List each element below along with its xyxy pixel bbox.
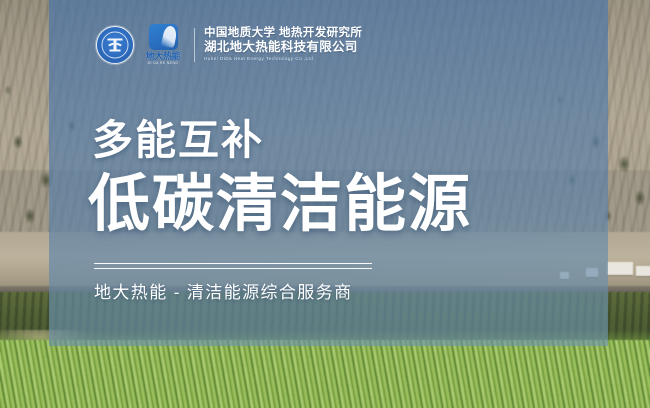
headline-primary: 低碳清洁能源 [88, 169, 472, 241]
brandmark-cn-label: 地大热能 [142, 51, 184, 61]
headline-divider [94, 263, 372, 269]
promotional-banner: 地大热能 DI DA RE NENG 中国地质大学 地热开发研究所 湖北地大热能… [0, 0, 650, 408]
university-emblem-icon [96, 26, 134, 64]
headline-secondary: 多能互补 [92, 117, 264, 163]
rainbow-flame-icon [149, 24, 178, 50]
company-name-en: Hubei DiDa Heat Energy Technology Co.,Lt… [204, 55, 362, 63]
company-name-cn: 湖北地大热能科技有限公司 [204, 40, 362, 55]
tagline: 地大热能 - 清洁能源综合服务商 [94, 281, 353, 305]
logo-vertical-divider [194, 28, 195, 62]
institute-name: 中国地质大学 地热开发研究所 [204, 27, 362, 40]
logo-text-block: 中国地质大学 地热开发研究所 湖北地大热能科技有限公司 Hubei DiDa H… [204, 27, 362, 63]
company-brandmark: 地大热能 DI DA RE NENG [142, 24, 184, 66]
logo-lockup[interactable]: 地大热能 DI DA RE NENG 中国地质大学 地热开发研究所 湖北地大热能… [96, 24, 362, 66]
emblem-glyph-icon [107, 38, 124, 53]
brandmark-en-label: DI DA RE NENG [142, 61, 184, 66]
